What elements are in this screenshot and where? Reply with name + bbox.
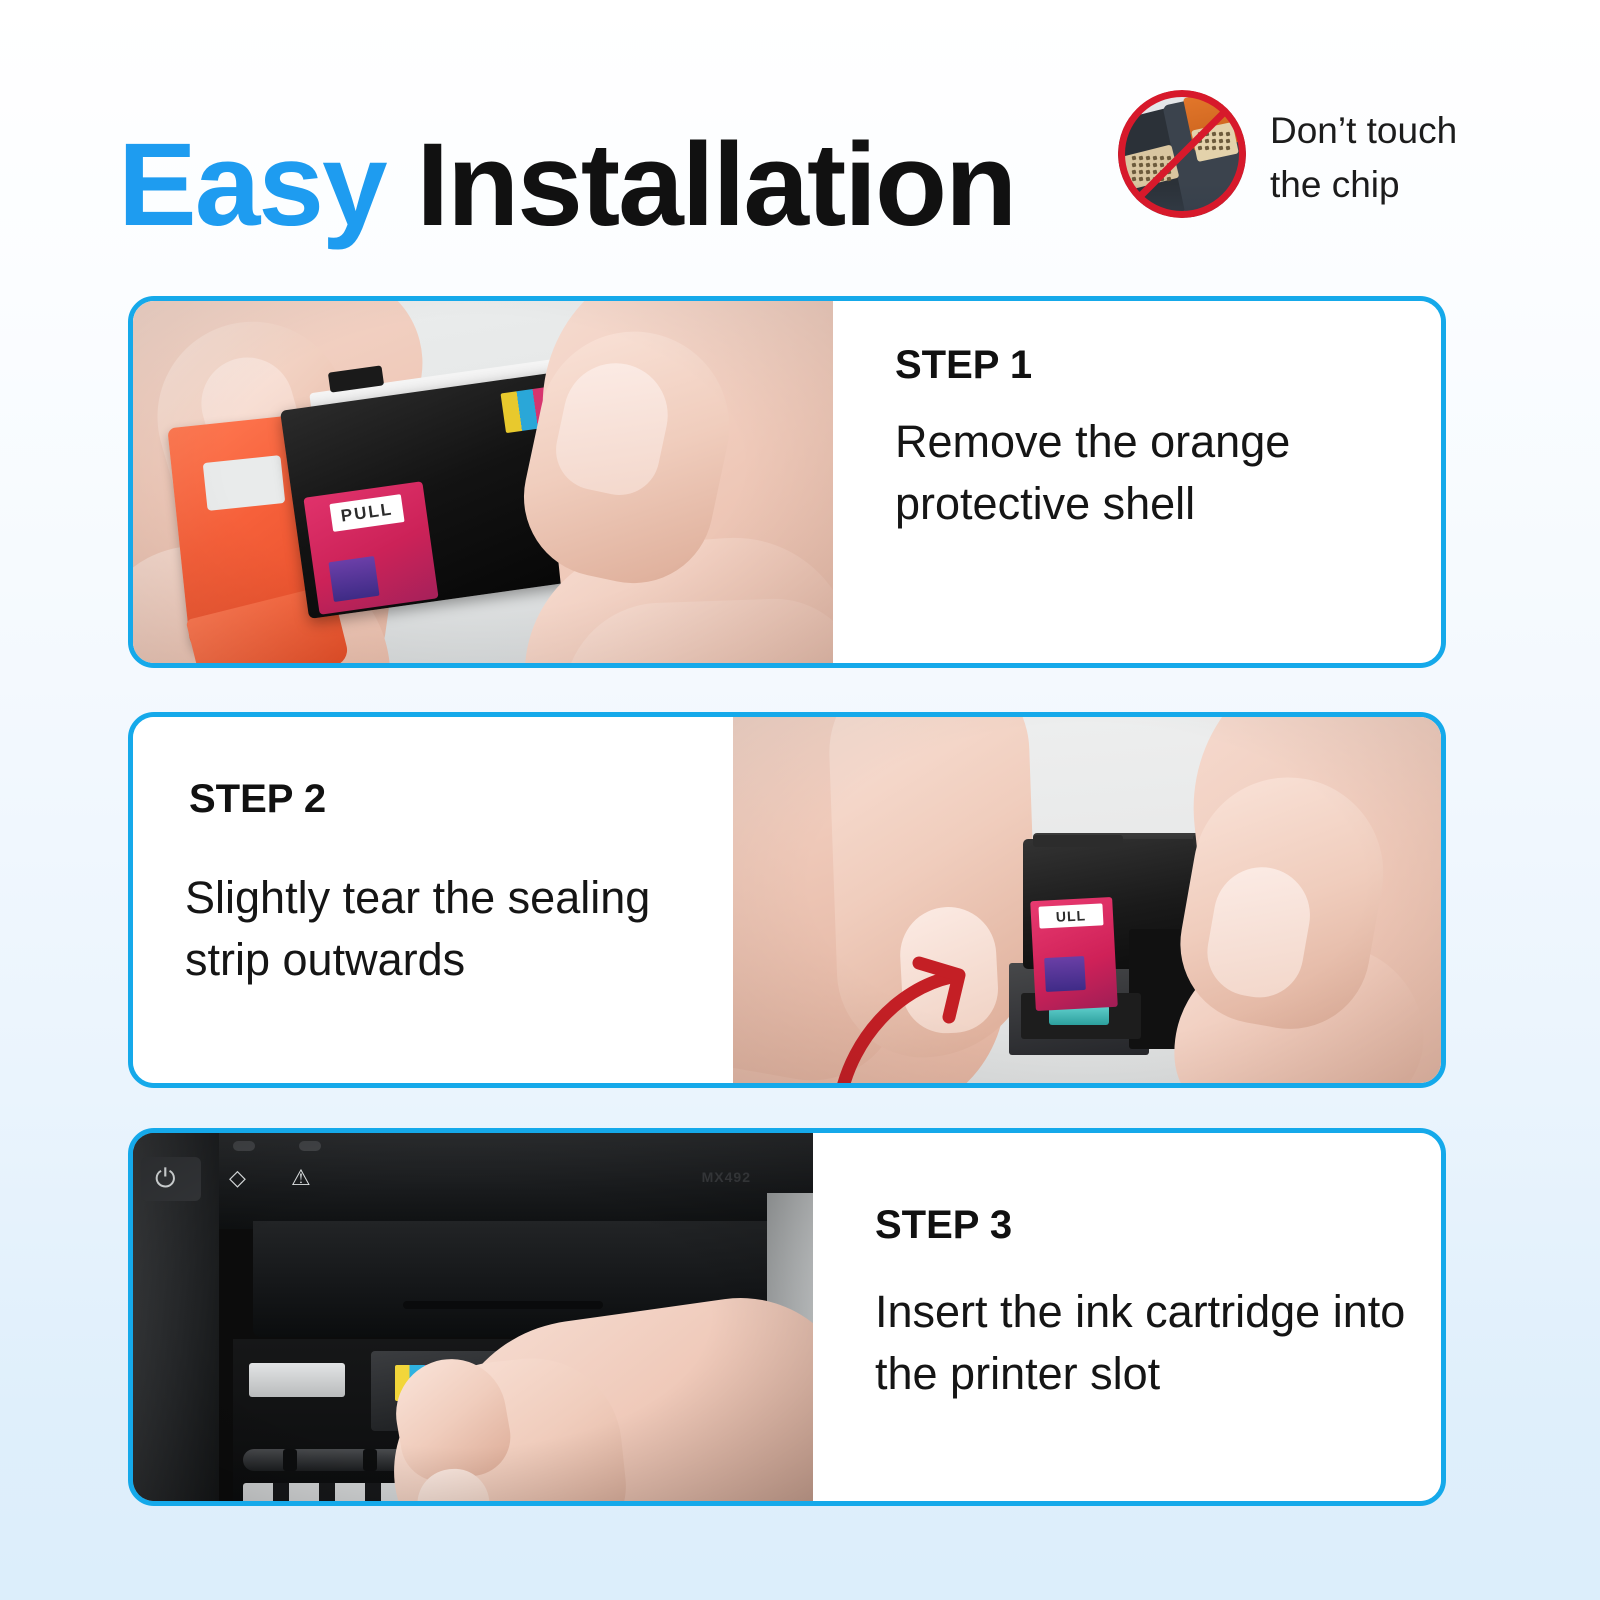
step-3-text: STEP 3 Insert the ink cartridge into the… xyxy=(813,1133,1441,1501)
installation-infographic: Easy Installation Don’t touch the xyxy=(0,0,1600,1600)
page-title-rest: Installation xyxy=(386,119,1016,251)
step-3-heading: STEP 3 xyxy=(875,1203,1012,1248)
chip-warning: Don’t touch the chip xyxy=(1118,90,1578,240)
step-1-body: Remove the orange protective shell xyxy=(895,411,1325,535)
step-1-photo: PULL xyxy=(133,301,833,663)
step-2-panel: STEP 2 Slightly tear the sealing strip o… xyxy=(128,712,1446,1088)
chip-warning-line1: Don’t touch xyxy=(1270,104,1570,158)
chip-warning-text: Don’t touch the chip xyxy=(1270,104,1570,212)
step-1-panel: PULL STEP 1 Remove the orange protective… xyxy=(128,296,1446,668)
step-3-panel: ⏻ ◇ ⚠ MX492 STEP 3 xyxy=(128,1128,1446,1506)
step-1-heading: STEP 1 xyxy=(895,343,1032,388)
step-2-text: STEP 2 Slightly tear the sealing strip o… xyxy=(133,717,733,1083)
step-2-heading: STEP 2 xyxy=(189,777,326,822)
no-touch-chip-icon xyxy=(1118,90,1246,218)
page-title: Easy Installation xyxy=(118,126,1015,244)
step-3-body: Insert the ink cartridge into the printe… xyxy=(875,1281,1415,1405)
page-title-accent: Easy xyxy=(118,119,386,251)
chip-warning-line2: the chip xyxy=(1270,158,1570,212)
header: Easy Installation Don’t touch the xyxy=(0,60,1600,230)
step-2-photo: ULL xyxy=(733,717,1441,1083)
step-2-body: Slightly tear the sealing strip outwards xyxy=(185,867,745,991)
step-3-photo: ⏻ ◇ ⚠ MX492 xyxy=(133,1133,813,1501)
step-1-text: STEP 1 Remove the orange protective shel… xyxy=(833,301,1441,663)
